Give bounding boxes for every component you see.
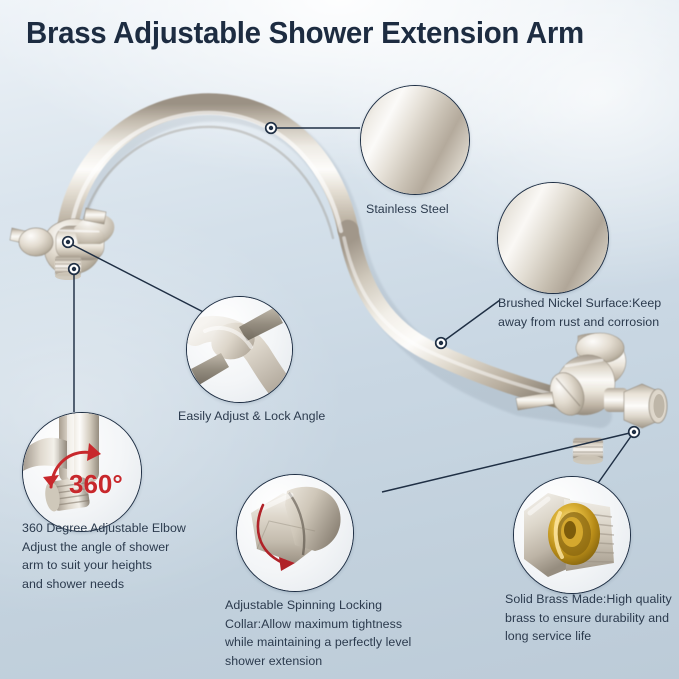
infographic-canvas: Brass Adjustable Shower Extension Arm <box>0 0 679 679</box>
arm-tube-marker <box>266 123 277 134</box>
caption-360-elbow: 360 Degree Adjustable Elbow Adjust the a… <box>22 519 212 593</box>
magnifier-brushed-nickel <box>497 182 609 294</box>
right-nut-marker <box>629 427 640 438</box>
caption-lock-angle: Easily Adjust & Lock Angle <box>178 407 378 426</box>
shower-arm-tube <box>66 104 566 400</box>
caption-spinning-collar: Adjustable Spinning Locking Collar:Allow… <box>225 596 435 670</box>
magnifier-spinning-collar <box>236 474 354 592</box>
magnifier-stainless-steel <box>360 85 470 195</box>
left-joint-marker <box>63 237 74 248</box>
right-threaded-outlet <box>573 438 603 465</box>
caption-solid-brass: Solid Brass Made:High quality brass to e… <box>505 590 679 646</box>
magnifier-360-elbow: 360° <box>22 412 142 532</box>
hex-nut <box>624 384 667 428</box>
right-elbow-assembly <box>516 333 667 465</box>
left-outlet-marker <box>69 264 80 275</box>
lower-arm-marker <box>436 338 447 349</box>
magnifier-solid-brass <box>513 476 631 594</box>
badge-360: 360° <box>69 469 123 500</box>
caption-brushed-nickel: Brushed Nickel Surface:Keep away from ru… <box>498 294 679 331</box>
magnifier-lock-angle <box>186 296 293 403</box>
leader-brushed-nickel <box>441 300 500 343</box>
